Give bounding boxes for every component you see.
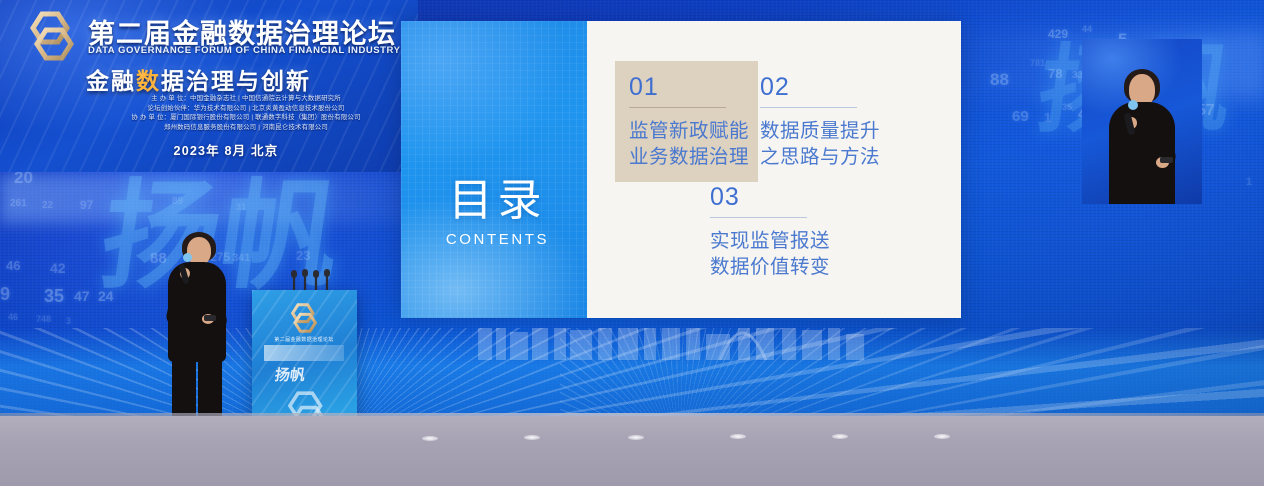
toc-item-01-text: 监管新政赋能 业务数据治理 bbox=[629, 118, 749, 170]
light-rays-right bbox=[560, 328, 1264, 424]
forum-hexagon-logo bbox=[22, 10, 82, 62]
toc-item-01-number: 01 bbox=[629, 75, 749, 100]
organizer-line: 主 办 单 位：中国金融杂志社 | 中国信通院云计算与大数据研究所 bbox=[96, 94, 396, 104]
theme-gold-char: 数 bbox=[136, 68, 161, 94]
toc-item-01: 01 监管新政赋能 业务数据治理 bbox=[629, 75, 749, 170]
theme-part1: 金融 bbox=[86, 68, 136, 94]
conference-stage-photo: 扬帆 扬帆 8196437176523154974320261229746429… bbox=[0, 0, 1264, 486]
forum-theme-cn: 金融数据治理与创新 bbox=[86, 62, 311, 96]
forum-organizers: 主 办 单 位：中国金融杂志社 | 中国信通院云计算与大数据研究所 论坛创始伙伴… bbox=[96, 94, 396, 132]
microphone-stand-group bbox=[288, 268, 336, 292]
slide-toc-title-cn: 目录 bbox=[425, 179, 570, 223]
floor-light bbox=[832, 434, 848, 439]
feed-background bbox=[1082, 39, 1202, 204]
toc-item-02-rule bbox=[760, 107, 857, 108]
forum-title-cn: 第二届金融数据治理论坛 bbox=[88, 12, 396, 51]
presentation-slide: 目录 CONTENTS 01 监管新政赋能 业务数据治理 02 数据质量提升 之… bbox=[401, 21, 961, 318]
forum-key-visual: 第二届金融数据治理论坛 DATA GOVERNANCE FORUM OF CHI… bbox=[0, 0, 418, 172]
organizer-line: 论坛创始伙伴：华为技术有限公司 | 北京炎黄盈动信息技术股份公司 bbox=[96, 104, 396, 114]
organizer-line: 郑州数码信息服务股份有限公司 | 河南昆仑技术有限公司 bbox=[96, 123, 396, 133]
toc-item-02: 02 数据质量提升 之思路与方法 bbox=[760, 75, 880, 170]
toc-item-03-text: 实现监管报送 数据价值转变 bbox=[710, 228, 830, 280]
toc-item-03-rule bbox=[710, 217, 807, 218]
forum-title-en: DATA GOVERNANCE FORUM OF CHINA FINANCIAL… bbox=[88, 45, 400, 56]
floor-light bbox=[524, 435, 540, 440]
forum-date-location: 2023年 8月 北京 bbox=[96, 140, 356, 159]
floor-light bbox=[730, 434, 746, 439]
floor-light bbox=[934, 434, 950, 439]
slide-content-panel: 01 监管新政赋能 业务数据治理 02 数据质量提升 之思路与方法 03 bbox=[587, 21, 961, 318]
speaker-video-feed bbox=[1082, 39, 1202, 204]
organizer-line: 协 办 单 位：厦门国际银行股份有限公司 | 联通数字科技（集团）股份有限公司 bbox=[96, 113, 396, 123]
toc-item-02-text: 数据质量提升 之思路与方法 bbox=[760, 118, 880, 170]
stage-floor bbox=[0, 416, 1264, 486]
toc-item-02-number: 02 bbox=[760, 75, 880, 100]
slide-toc-title-en: CONTENTS bbox=[425, 231, 570, 248]
light-sweep bbox=[0, 175, 470, 223]
theme-part2: 据治理与创新 bbox=[161, 68, 311, 94]
floor-light bbox=[628, 435, 644, 440]
podium-title-cn: 第二届金融数据治理论坛 bbox=[260, 336, 348, 343]
toc-item-03-number: 03 bbox=[710, 185, 830, 210]
slide-glow bbox=[401, 188, 587, 318]
toc-item-03: 03 实现监管报送 数据价值转变 bbox=[710, 185, 830, 280]
slide-left-panel: 目录 CONTENTS bbox=[401, 21, 587, 318]
podium-hexagon-logo bbox=[286, 302, 322, 334]
led-city-skyline-band bbox=[0, 328, 1264, 424]
podium-calligraphy: 扬帆 bbox=[259, 364, 322, 385]
podium-title-band bbox=[264, 345, 344, 361]
floor-light bbox=[422, 436, 438, 441]
toc-item-01-rule bbox=[629, 107, 726, 108]
